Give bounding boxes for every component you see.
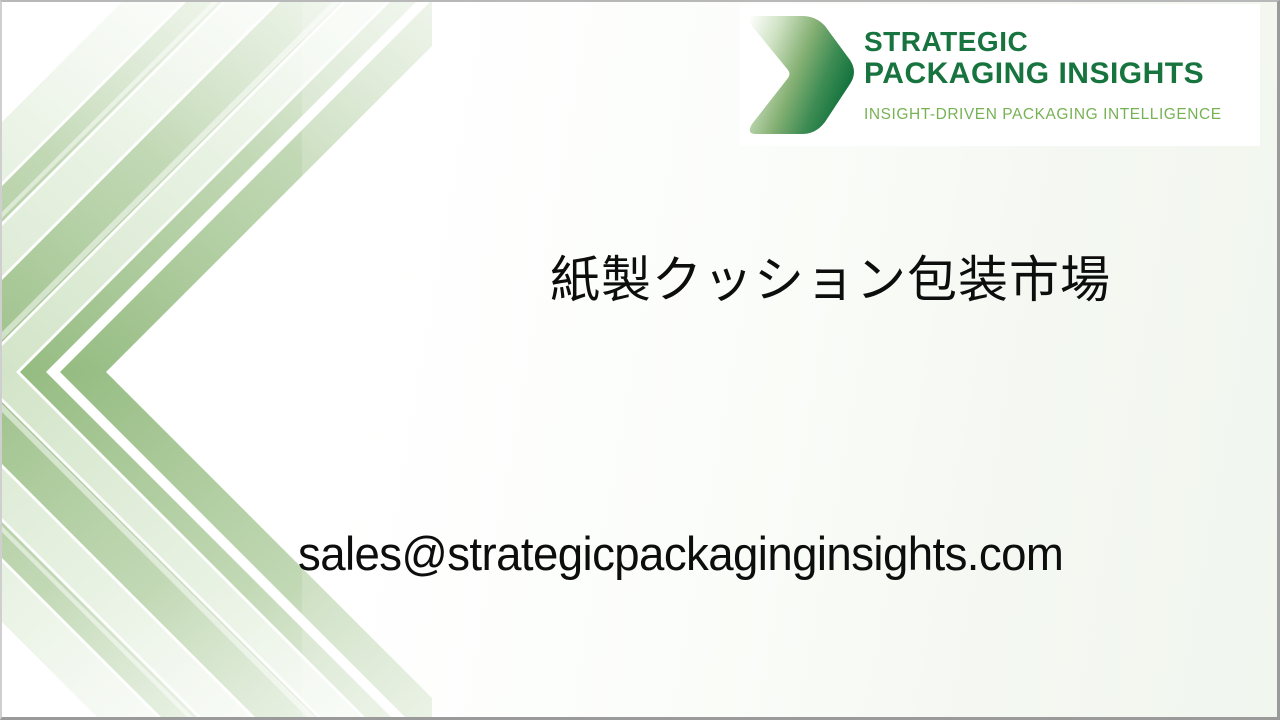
logo-line-2: PACKAGING INSIGHTS xyxy=(864,59,1222,89)
chevron-stripes-graphic xyxy=(2,2,432,720)
presentation-slide: STRATEGIC PACKAGING INSIGHTS INSIGHT-DRI… xyxy=(0,0,1280,720)
logo-tagline: INSIGHT-DRIVEN PACKAGING INTELLIGENCE xyxy=(864,106,1222,124)
page-title: 紙製クッション包装市場 xyxy=(550,252,1111,310)
company-logo: STRATEGIC PACKAGING INSIGHTS INSIGHT-DRI… xyxy=(740,4,1260,146)
logo-line-1: STRATEGIC xyxy=(864,28,1222,56)
chevron-right-mark xyxy=(742,8,860,143)
contact-email: sales@strategicpackaginginsights.com xyxy=(298,526,1063,581)
